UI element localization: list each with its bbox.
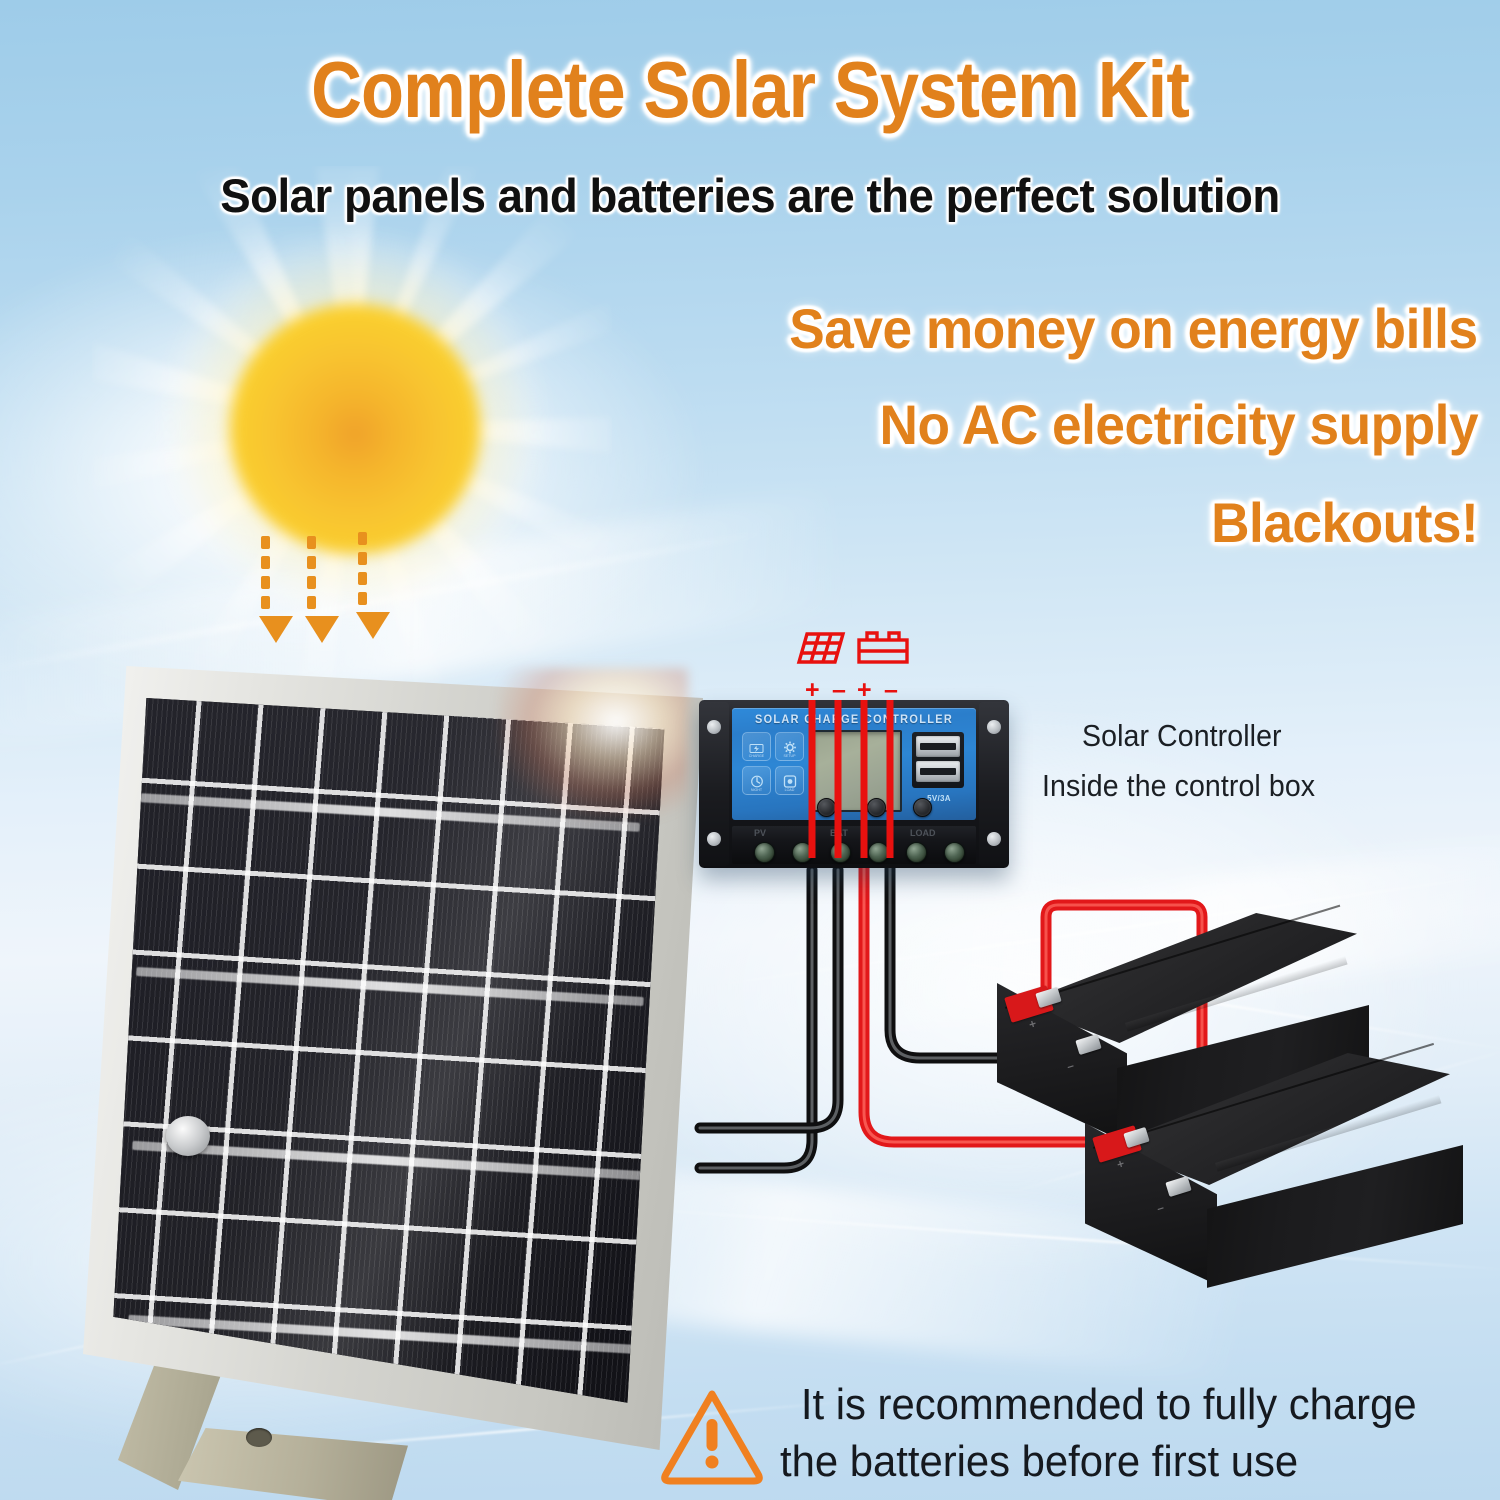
warning-line-1: It is recommended to fully charge [780,1376,1455,1433]
page-subtitle: Solar panels and batteries are the perfe… [23,168,1478,223]
mount-hole-bottom-left [707,832,721,846]
page-title: Complete Solar System Kit [90,44,1410,136]
warning-triangle-icon [660,1386,764,1486]
terminal-screw-6[interactable] [944,842,965,863]
benefit-line-3: Blackouts! [1211,490,1478,555]
wiring-key-leaders-overlay [795,700,935,872]
mount-hole-bottom-right [987,832,1001,846]
sunlight-arrow-2 [305,536,317,643]
controller-left-flange [699,702,729,866]
callout-solar-controller: Solar Controller [1082,718,1282,754]
solar-panel-product [58,628,738,1488]
warning-text: It is recommended to fully charge the ba… [780,1376,1455,1490]
sunlight-arrow-3 [356,532,368,639]
warning-line-2: the batteries before first use [780,1433,1455,1490]
panel-cell-grid [110,682,670,1410]
solar-panel-icon [799,634,843,662]
badge-night-mode-icon: NIGHT [742,766,771,795]
benefit-line-2: No AC electricity supply [879,392,1478,457]
battery-front: + – [1063,1035,1493,1335]
badge-label-charge: CHARGE [743,754,770,758]
bracket-mounting-hole [246,1428,272,1447]
mount-hole-top-left [707,720,721,734]
warning-callout: It is recommended to fully charge the ba… [660,1378,1490,1496]
mount-hole-top-right [987,720,1001,734]
controller-right-flange [979,702,1009,866]
badge-label-night: NIGHT [743,788,770,792]
sunlight-arrow-1 [259,536,271,643]
wiring-key: + – + – [795,628,925,706]
panel-cell-area [110,682,670,1410]
battery-pair: + – + – [975,895,1500,1325]
infographic-canvas: Complete Solar System Kit Solar panels a… [0,0,1500,1500]
badge-battery-charge-icon: CHARGE [742,732,771,761]
sun-graphic [152,236,552,636]
battery-icon [859,633,907,662]
terminal-symbol-pv: PV [754,828,766,838]
benefit-line-1: Save money on energy bills [790,296,1478,361]
terminal-screw-1[interactable] [754,842,775,863]
wiring-key-icons [795,628,925,674]
sun-disc-icon [230,304,480,554]
panel-pivot-bolt [166,1116,210,1156]
callout-inside-control-box: Inside the control box [1042,768,1315,804]
